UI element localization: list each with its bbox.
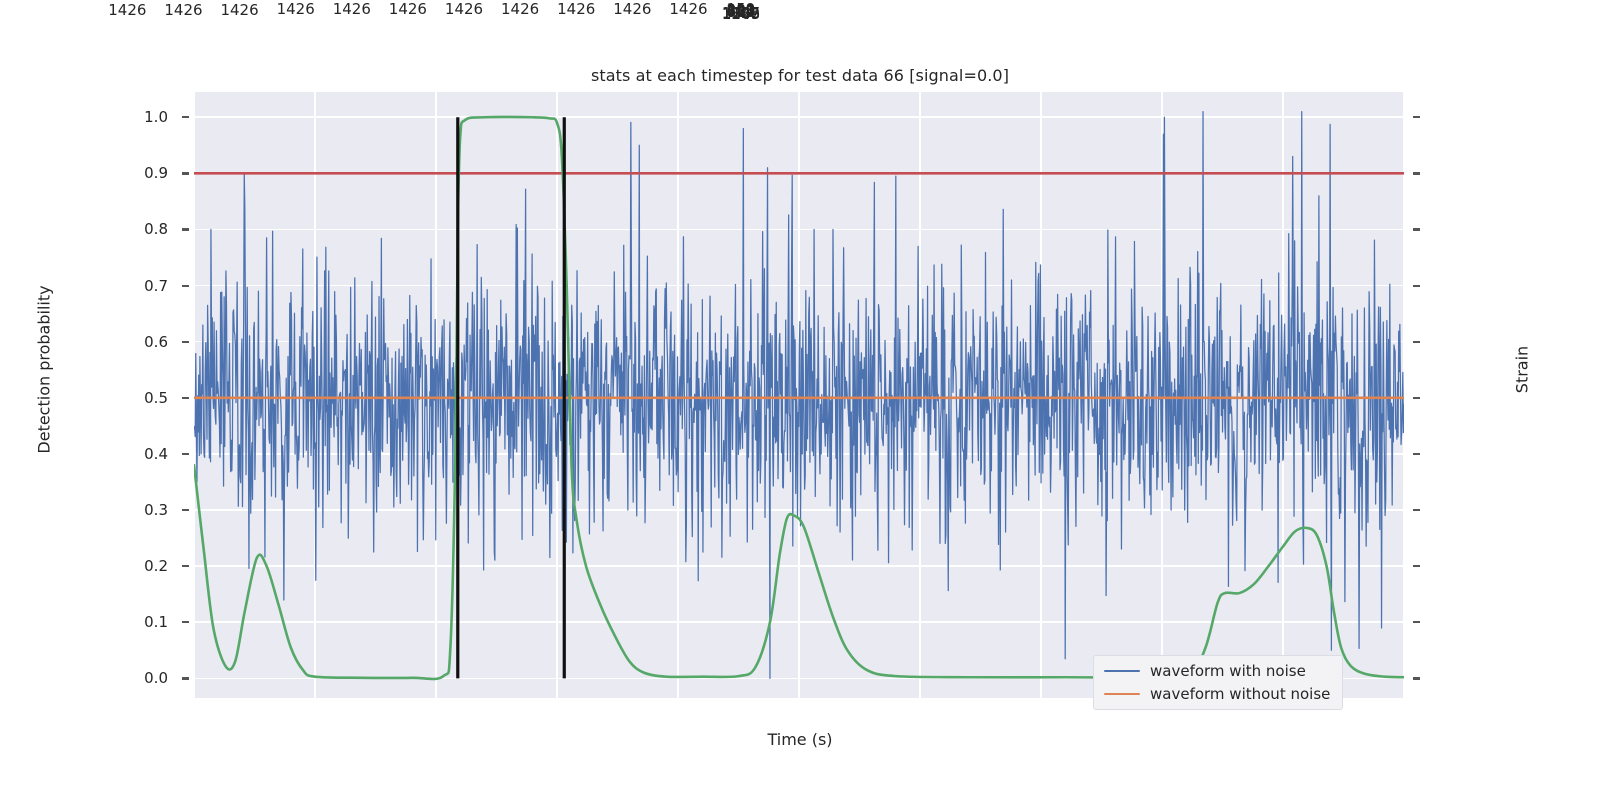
y-tick-label-right-7: 1426: [501, 0, 565, 18]
y-tick-label-left-8: 0.8: [108, 220, 168, 238]
y-tick-label-left-2: 0.2: [108, 557, 168, 575]
y-tick-mark-right-5: [1413, 397, 1420, 399]
y-tick-mark-left-1: [182, 621, 189, 623]
y-tick-mark-right-10: [1413, 677, 1420, 679]
y-tick-mark-right-7: [1413, 509, 1420, 511]
legend-label-clean: waveform without noise: [1150, 686, 1330, 702]
y-tick-mark-right-3: [1413, 285, 1420, 287]
matplotlib-figure: stats at each timestep for test data 66 …: [0, 0, 1600, 800]
x-tick-label-10: 1369: [706, 5, 776, 23]
y-tick-mark-right-4: [1413, 341, 1420, 343]
y-tick-mark-right-6: [1413, 453, 1420, 455]
y-tick-mark-right-0: [1413, 116, 1420, 118]
y-tick-label-right-0: 1426: [108, 1, 172, 19]
y-tick-mark-right-1: [1413, 172, 1420, 174]
y-tick-label-left-6: 0.6: [108, 333, 168, 351]
legend-swatch-noise: [1104, 670, 1140, 673]
y-tick-mark-left-0: [182, 677, 189, 679]
x-axis-label: Time (s): [0, 730, 1600, 749]
y-tick-mark-left-8: [182, 228, 189, 230]
legend-item-1[interactable]: waveform without noise: [1104, 686, 1330, 702]
y-tick-mark-left-3: [182, 509, 189, 511]
y-tick-label-left-4: 0.4: [108, 445, 168, 463]
y-tick-label-left-5: 0.5: [108, 389, 168, 407]
y-axis-label-left: Detection probability: [35, 220, 54, 520]
y-tick-label-left-10: 1.0: [108, 108, 168, 126]
page-title: stats at each timestep for test data 66 …: [0, 66, 1600, 85]
y-tick-mark-right-9: [1413, 621, 1420, 623]
legend-item-0[interactable]: waveform with noise: [1104, 663, 1330, 679]
y-tick-mark-left-7: [182, 285, 189, 287]
y-tick-label-right-5: 1426: [389, 0, 453, 18]
y-tick-label-right-8: 1426: [557, 0, 621, 18]
y-tick-label-right-9: 1426: [613, 0, 677, 18]
plot-area: [194, 92, 1404, 698]
legend[interactable]: waveform with noise waveform without noi…: [1093, 655, 1343, 710]
legend-swatch-clean: [1104, 693, 1140, 696]
legend-label-noise: waveform with noise: [1150, 663, 1306, 679]
y-tick-mark-left-2: [182, 565, 189, 567]
y-axis-label-right: Strain: [1513, 220, 1532, 520]
y-tick-label-left-0: 0.0: [108, 669, 168, 687]
y-tick-label-right-3: 1426: [277, 0, 341, 18]
y-tick-mark-left-9: [182, 172, 189, 174]
y-tick-label-right-1: 1426: [164, 1, 228, 19]
y-tick-mark-right-8: [1413, 565, 1420, 567]
y-tick-label-left-3: 0.3: [108, 501, 168, 519]
y-tick-mark-left-5: [182, 397, 189, 399]
y-tick-label-right-6: 1426: [445, 0, 509, 18]
y-tick-label-right-4: 1426: [333, 0, 397, 18]
y-tick-label-left-7: 0.7: [108, 277, 168, 295]
y-tick-mark-right-2: [1413, 228, 1420, 230]
y-tick-label-left-9: 0.9: [108, 164, 168, 182]
y-tick-label-left-1: 0.1: [108, 613, 168, 631]
series-canvas: [194, 92, 1404, 698]
y-tick-mark-left-6: [182, 341, 189, 343]
y-tick-mark-left-10: [182, 116, 189, 118]
y-tick-label-right-2: 1426: [220, 1, 284, 19]
y-tick-mark-left-4: [182, 453, 189, 455]
